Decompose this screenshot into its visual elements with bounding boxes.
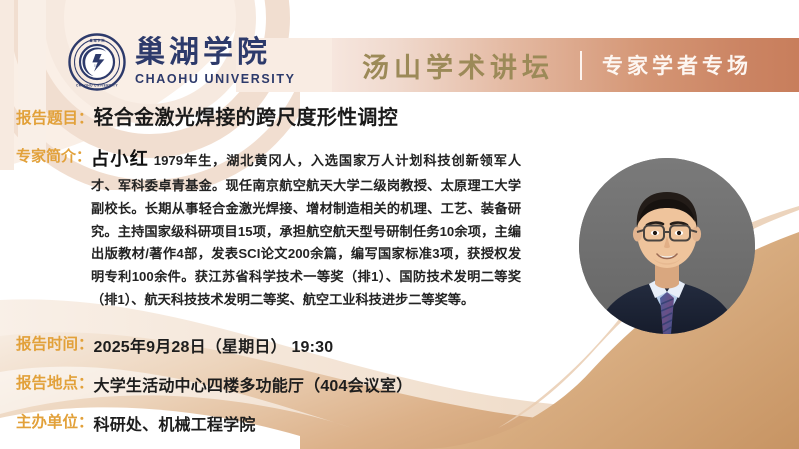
speaker-bio-body: 占小红 1979年生，湖北黄冈人，入选国家万人计划科技创新领军人才、军科委卓青基… [91, 144, 521, 311]
university-seal-icon: 巢 湖 学 院 CHAOHU UNIVERSITY 1977 [68, 33, 126, 91]
report-location-value: 大学生活动中心四楼多功能厅（404会议室） [94, 372, 413, 396]
svg-text:巢 湖 学 院: 巢 湖 学 院 [89, 38, 106, 43]
svg-text:1977: 1977 [94, 63, 100, 67]
university-logo-block: 巢 湖 学 院 CHAOHU UNIVERSITY 1977 巢湖学院 CHAO… [68, 33, 296, 91]
banner-main-title: 汤山学术讲坛 [362, 46, 554, 85]
speaker-name: 占小红 [91, 149, 149, 169]
report-title-value: 轻合金激光焊接的跨尺度形性调控 [94, 107, 399, 130]
banner-divider-icon [580, 51, 582, 80]
poster-root: 巢 湖 学 院 CHAOHU UNIVERSITY 1977 巢湖学院 CHAO… [0, 0, 799, 449]
report-time-label: 报告时间： [16, 333, 94, 356]
svg-text:CHAOHU UNIVERSITY: CHAOHU UNIVERSITY [76, 84, 118, 88]
event-banner: 汤山学术讲坛 专家学者专场 [332, 38, 799, 92]
report-location-label: 报告地点： [16, 372, 94, 395]
report-title-row: 报告题目： 轻合金激光焊接的跨尺度形性调控 [0, 107, 799, 130]
speaker-portrait [579, 158, 755, 334]
report-title-label: 报告题目： [16, 107, 94, 130]
speaker-bio-label: 专家简介： [16, 144, 91, 169]
organizer-row: 主办单位： 科研处、机械工程学院 [0, 411, 799, 435]
university-wordmark: 巢湖学院 CHAOHU UNIVERSITY [135, 38, 296, 86]
poster-header: 巢 湖 学 院 CHAOHU UNIVERSITY 1977 巢湖学院 CHAO… [0, 0, 799, 100]
speaker-bio-text: 1979年生，湖北黄冈人，入选国家万人计划科技创新领军人才、军科委卓青基金。现任… [91, 153, 521, 306]
organizer-value: 科研处、机械工程学院 [94, 411, 256, 435]
university-name-en: CHAOHU UNIVERSITY [135, 73, 296, 86]
banner-subtitle: 专家学者专场 [602, 50, 752, 80]
organizer-label: 主办单位： [16, 411, 94, 434]
university-name-cn: 巢湖学院 [135, 38, 296, 68]
report-location-row: 报告地点： 大学生活动中心四楼多功能厅（404会议室） [0, 372, 799, 396]
report-time-row: 报告时间： 2025年9月28日（星期日） 19:30 [0, 333, 799, 357]
report-time-value: 2025年9月28日（星期日） 19:30 [94, 333, 334, 357]
